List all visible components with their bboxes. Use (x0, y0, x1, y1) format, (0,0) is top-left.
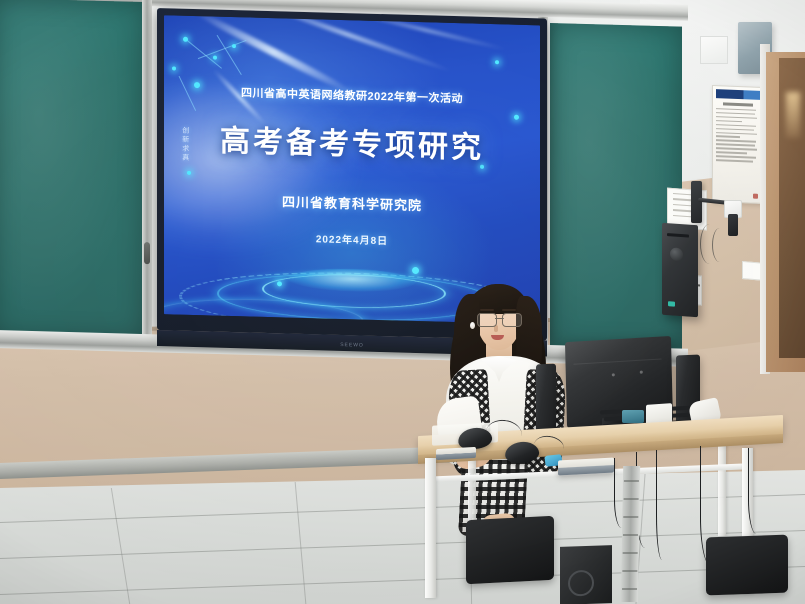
slide-node (514, 114, 519, 119)
poster-text-line (716, 152, 747, 155)
floor-cable-duct (621, 466, 640, 602)
slide-node (495, 60, 499, 64)
slide-ring-highlight (412, 267, 419, 274)
wall-sensor-unit (728, 214, 738, 236)
tower-drive-slot[interactable] (667, 233, 689, 238)
bag-on-floor (706, 535, 788, 596)
network-device (436, 447, 476, 460)
floor-tile-line (295, 482, 307, 604)
slide-streak (346, 15, 509, 51)
floor-tile-line (0, 566, 805, 595)
slide-node (183, 37, 188, 42)
poster-text-line (716, 132, 757, 135)
slide-node (232, 44, 236, 48)
monitor-seam (574, 358, 662, 364)
duct-rung (623, 534, 638, 536)
tower-power-button[interactable] (670, 247, 683, 261)
poster-text-line (716, 116, 757, 119)
floor-tile-line (0, 494, 805, 523)
floor (0, 470, 805, 604)
lens-left (477, 313, 497, 327)
bag-under-desk (466, 516, 554, 585)
door-light-reflection (786, 92, 800, 138)
earring (470, 322, 475, 329)
slide-node-link (216, 35, 241, 75)
floor-tile-line (111, 488, 130, 604)
slide-node (213, 55, 217, 59)
blackboard-panel-left (0, 0, 144, 340)
poster-text-line (716, 144, 755, 147)
poster-text-line (716, 156, 756, 159)
board-rail-lock[interactable] (144, 242, 150, 264)
eyebrow-left (480, 309, 494, 311)
poster-text-line (716, 140, 756, 143)
computer-tower-wall (662, 223, 698, 318)
wall-cable (712, 228, 727, 262)
duct-rung (624, 480, 639, 482)
monitor-screw (612, 373, 615, 376)
duct-rung (622, 570, 637, 572)
slide-node-link (186, 40, 221, 69)
poster-stamp (753, 194, 758, 199)
eyeglasses (477, 313, 522, 326)
lens-right (502, 313, 522, 327)
slide-ring-highlight (277, 281, 282, 286)
tower-status-led (668, 301, 675, 306)
board-slide-rail[interactable] (142, 0, 152, 340)
hanging-cable (748, 448, 769, 534)
duct-rung (623, 552, 638, 554)
duct-rung (622, 588, 637, 590)
poster-text-line (716, 160, 753, 163)
wall-panel-small (700, 36, 728, 64)
network-router (558, 458, 614, 476)
poster-text-line (716, 124, 756, 127)
computer-tower-floor (560, 545, 612, 604)
poster-title-bar (723, 102, 753, 106)
desk-leg-front-left (425, 458, 436, 598)
monitor-screw (640, 371, 643, 374)
poster-text-line (716, 112, 755, 115)
duct-rung (623, 516, 638, 518)
duct-rung (624, 498, 639, 500)
poster-text-line (716, 120, 742, 122)
poster-text-line (716, 128, 754, 131)
eyebrow-right (502, 309, 516, 311)
desk-device-teal (622, 410, 644, 423)
classroom-screenshot: 四川省高中英语网络教研2022年第一次活动 高考备考专项研究 四川省教育科学研究… (0, 0, 805, 604)
wall-notice-poster (712, 85, 764, 204)
display-brand-logo: SEEWO (340, 342, 364, 349)
poster-text-line (716, 136, 740, 138)
teacher-presenter (420, 278, 580, 528)
slide-node (172, 66, 176, 70)
poster-header-bar (716, 89, 760, 100)
tower-fan-grille (568, 570, 594, 597)
slide-vertical-motto: 创新求真 (180, 126, 192, 162)
poster-text-line (716, 108, 756, 111)
poster-text-line (716, 148, 757, 151)
hanging-cable (656, 450, 671, 560)
slide-streak (244, 15, 453, 73)
